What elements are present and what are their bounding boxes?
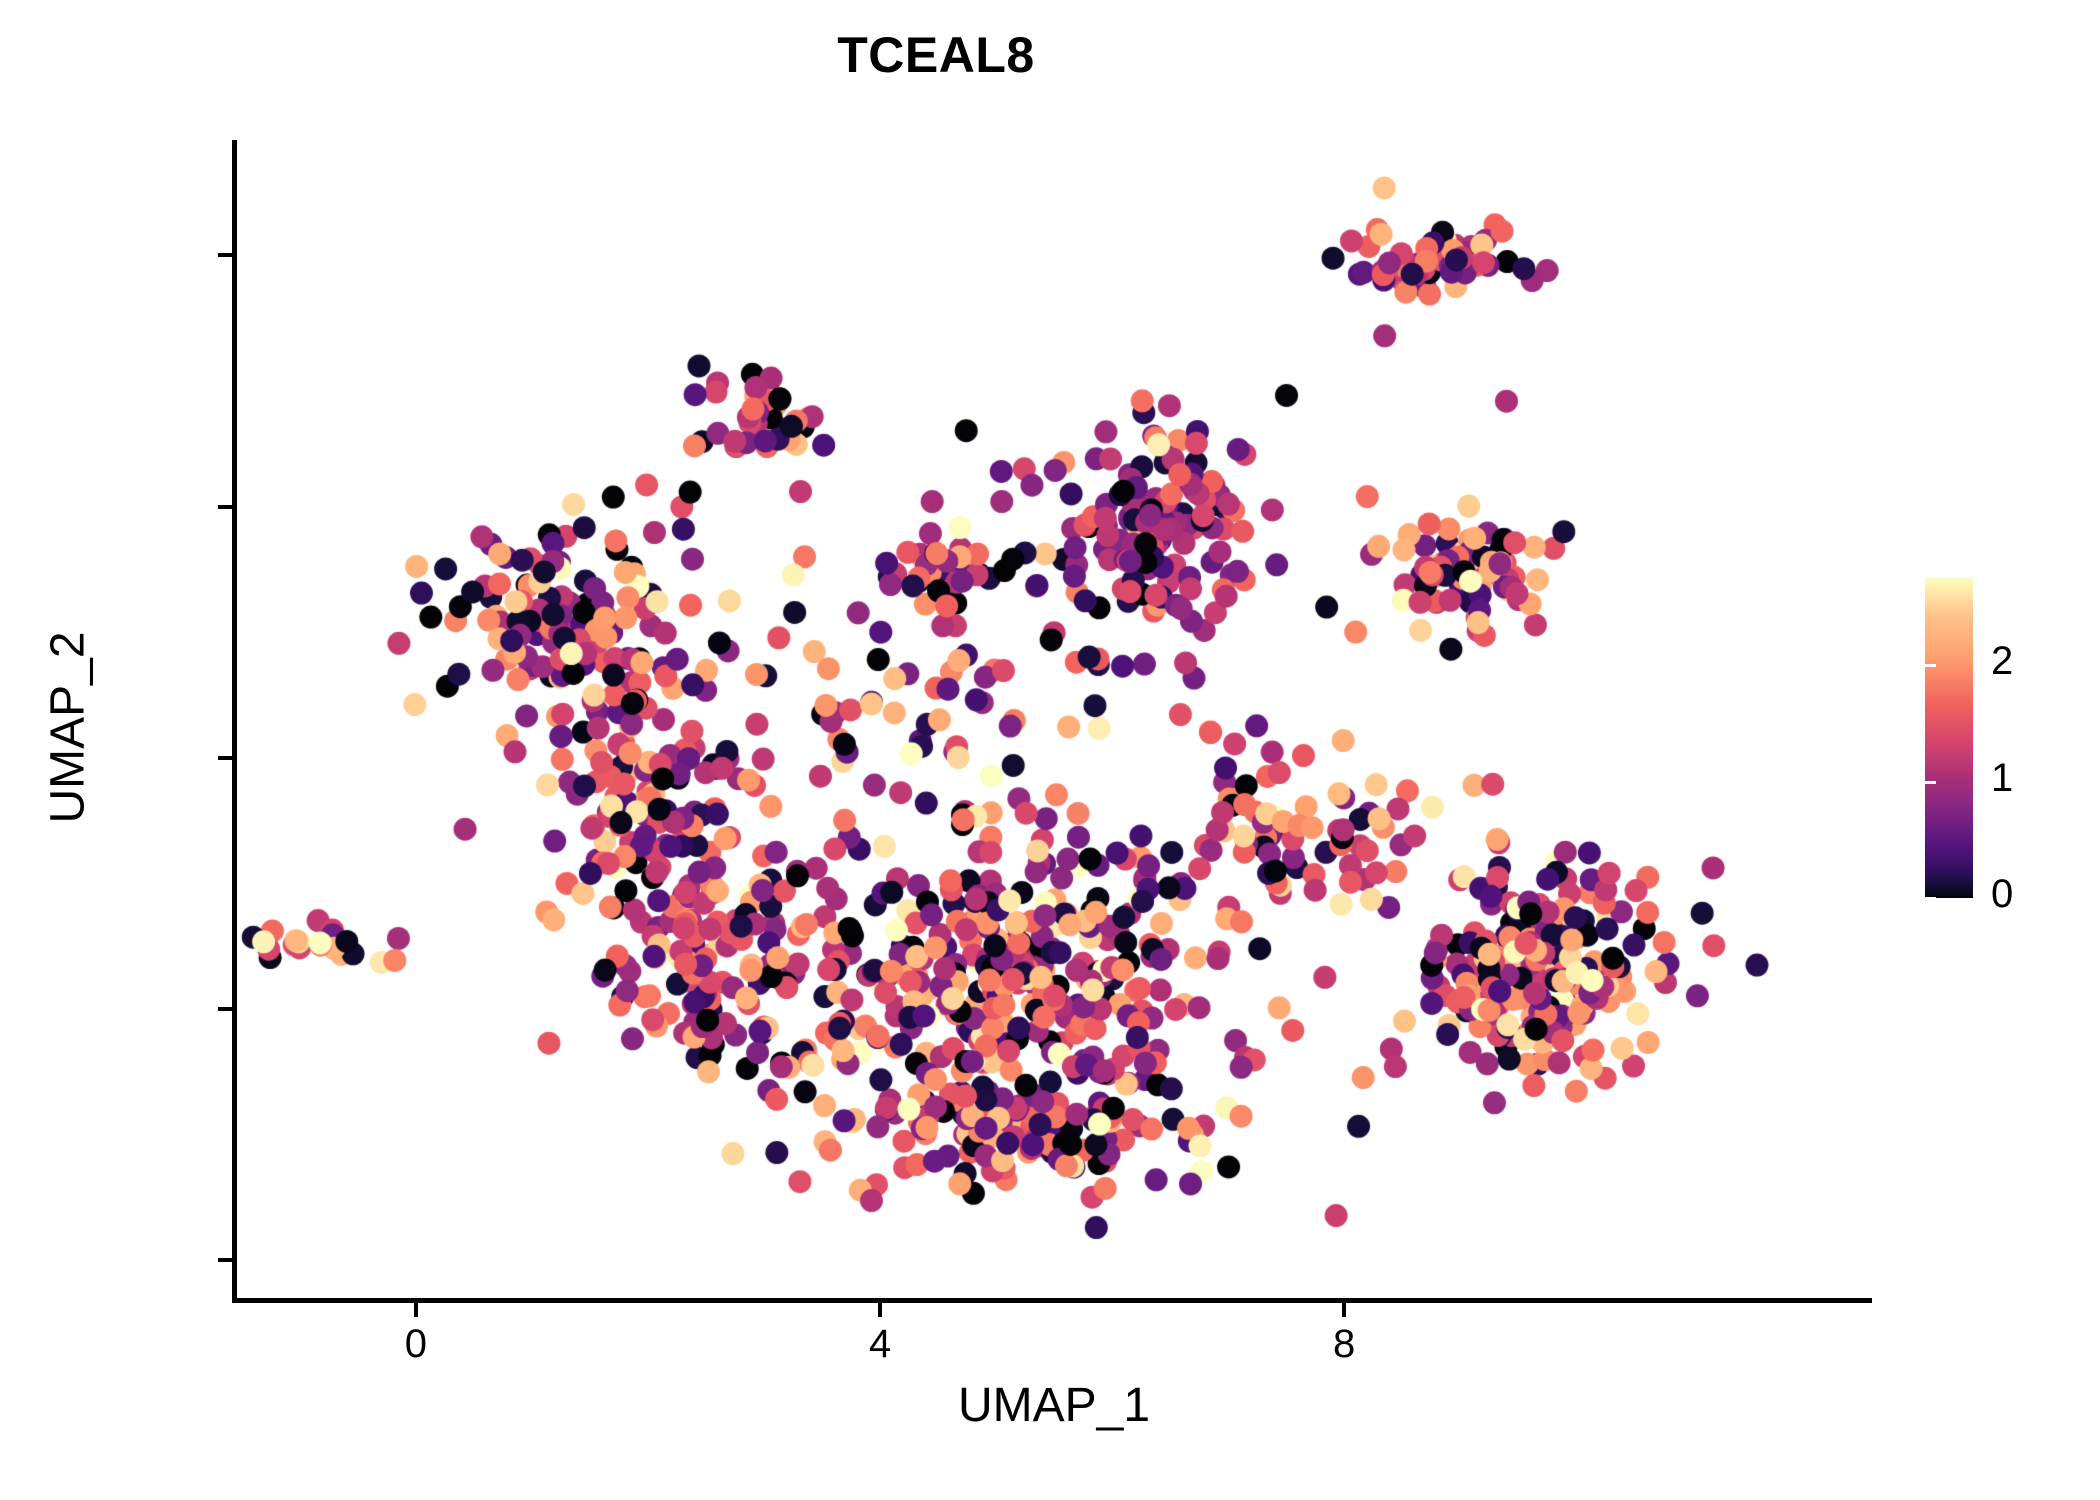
x-tick-label: 8	[1284, 1322, 1404, 1367]
x-tick-label: 4	[820, 1322, 940, 1367]
x-tick-mark	[878, 1303, 882, 1317]
page-title: TCEAL8	[0, 26, 1872, 84]
x-tick-mark	[1342, 1303, 1346, 1317]
x-tick-label: 0	[356, 1322, 476, 1367]
y-tick-mark	[218, 1258, 232, 1262]
x-axis-line	[232, 1298, 1872, 1303]
colorbar-tick-mark	[1914, 897, 1925, 900]
colorbar-tick-mark	[1925, 781, 1936, 784]
x-tick-mark	[414, 1303, 418, 1317]
x-axis-title: UMAP_1	[236, 1378, 1872, 1433]
y-axis-line	[232, 140, 237, 1303]
colorbar-tick-label: 0	[1991, 872, 2013, 917]
scatter-plot-canvas	[236, 140, 1872, 1300]
colorbar-tick-label: 1	[1991, 756, 2013, 801]
colorbar-tick-mark	[1914, 781, 1925, 784]
chart-figure: TCEAL8 -2.50.02.55.07.5 048 UMAP_2 UMAP_…	[0, 0, 2100, 1500]
y-tick-mark	[218, 505, 232, 509]
colorbar-tick-mark	[1925, 897, 1936, 900]
plot-panel	[236, 140, 1872, 1300]
y-tick-mark	[218, 1007, 232, 1011]
y-tick-mark	[218, 253, 232, 257]
y-tick-mark	[218, 756, 232, 760]
colorbar-tick-mark	[1925, 664, 1936, 667]
colorbar-tick-mark	[1914, 664, 1925, 667]
colorbar-gradient	[1925, 578, 1973, 898]
y-axis-title: UMAP_2	[41, 448, 96, 1008]
colorbar-tick-label: 2	[1991, 639, 2013, 684]
